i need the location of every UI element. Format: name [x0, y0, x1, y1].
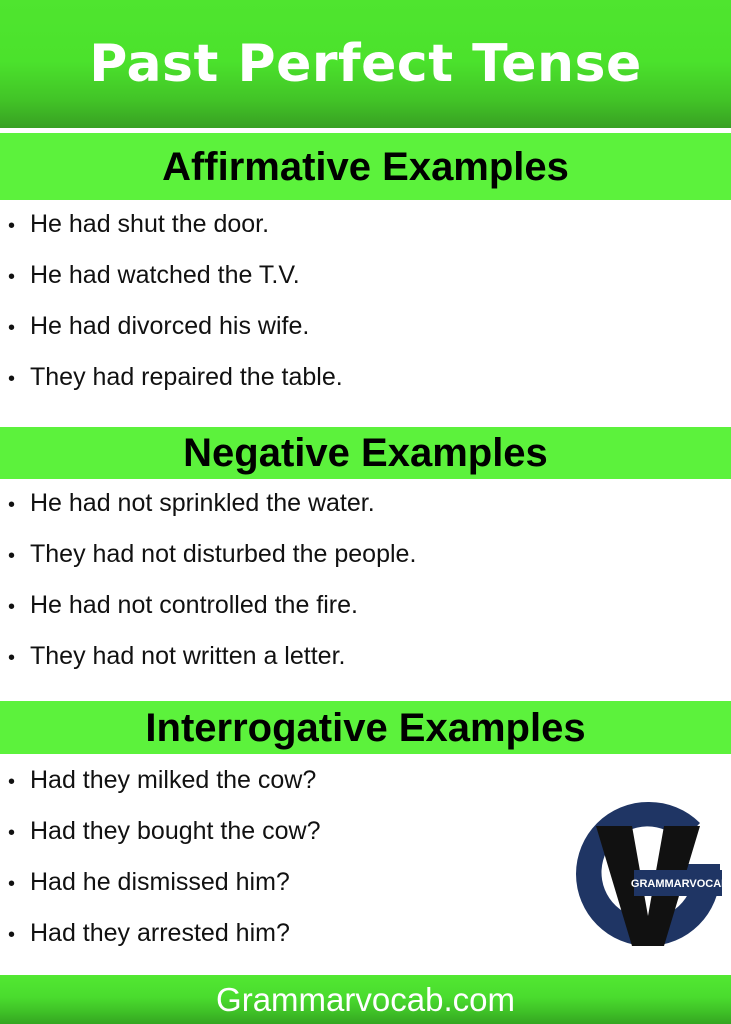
- list-item: • He had not controlled the fire.: [0, 593, 731, 644]
- logo-ribbon-text: GRAMMARVOCAB: [631, 878, 724, 890]
- list-item-text: He had shut the door.: [30, 212, 269, 237]
- bullet-icon: •: [8, 925, 30, 945]
- section-title-negative: Negative Examples: [183, 433, 548, 473]
- example-list-affirmative: • He had shut the door. • He had watched…: [0, 212, 731, 416]
- bullet-icon: •: [8, 216, 30, 236]
- list-item: • He had divorced his wife.: [0, 314, 731, 365]
- page-title: Past Perfect Tense: [89, 38, 642, 90]
- bullet-icon: •: [8, 495, 30, 515]
- infographic-page: Past Perfect Tense Affirmative Examples …: [0, 0, 731, 1024]
- bullet-icon: •: [8, 369, 30, 389]
- list-item: • They had repaired the table.: [0, 365, 731, 416]
- page-header: Past Perfect Tense: [0, 0, 731, 128]
- list-item-text: He had watched the T.V.: [30, 263, 300, 288]
- list-item-text: Had they bought the cow?: [30, 819, 320, 844]
- list-item-text: Had they arrested him?: [30, 921, 290, 946]
- list-item-text: They had not disturbed the people.: [30, 542, 416, 567]
- bullet-icon: •: [8, 823, 30, 843]
- list-item-text: He had not controlled the fire.: [30, 593, 358, 618]
- section-header-affirmative: Affirmative Examples: [0, 133, 731, 200]
- section-header-interrogative: Interrogative Examples: [0, 701, 731, 754]
- footer-website-text: Grammarvocab.com: [216, 983, 515, 1016]
- grammarvocab-logo: GRAMMARVOCAB: [572, 798, 724, 950]
- section-header-negative: Negative Examples: [0, 427, 731, 479]
- list-item-text: Had they milked the cow?: [30, 768, 316, 793]
- bullet-icon: •: [8, 597, 30, 617]
- bullet-icon: •: [8, 318, 30, 338]
- page-footer: Grammarvocab.com: [0, 975, 731, 1024]
- list-item: • He had watched the T.V.: [0, 263, 731, 314]
- section-title-affirmative: Affirmative Examples: [162, 147, 569, 187]
- example-list-negative: • He had not sprinkled the water. • They…: [0, 491, 731, 695]
- bullet-icon: •: [8, 546, 30, 566]
- list-item-text: They had not written a letter.: [30, 644, 345, 669]
- bullet-icon: •: [8, 874, 30, 894]
- list-item: • He had shut the door.: [0, 212, 731, 263]
- list-item-text: He had divorced his wife.: [30, 314, 309, 339]
- bullet-icon: •: [8, 648, 30, 668]
- list-item: • They had not written a letter.: [0, 644, 731, 695]
- list-item-text: Had he dismissed him?: [30, 870, 290, 895]
- section-title-interrogative: Interrogative Examples: [145, 708, 585, 748]
- list-item-text: They had repaired the table.: [30, 365, 343, 390]
- bullet-icon: •: [8, 772, 30, 792]
- list-item-text: He had not sprinkled the water.: [30, 491, 375, 516]
- list-item: • He had not sprinkled the water.: [0, 491, 731, 542]
- list-item: • They had not disturbed the people.: [0, 542, 731, 593]
- bullet-icon: •: [8, 267, 30, 287]
